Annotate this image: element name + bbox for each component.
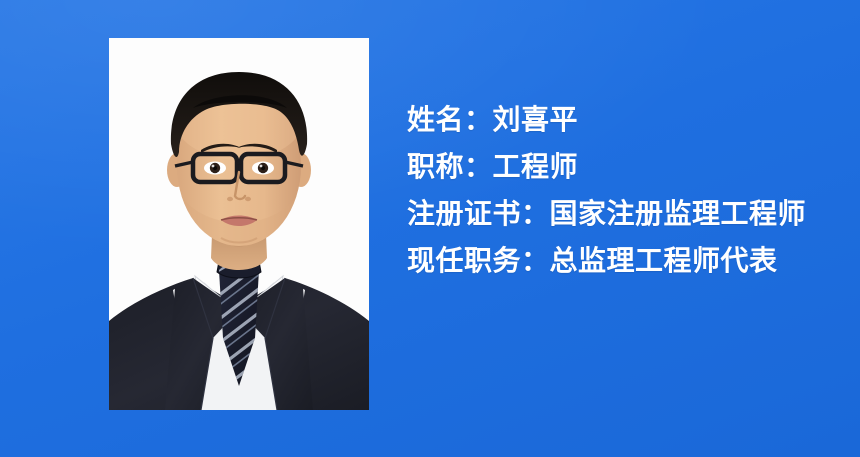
info-block: 姓名：刘喜平 职称：工程师 注册证书：国家注册监理工程师 现任职务：总监理工程师… <box>407 96 837 284</box>
info-line-name: 姓名：刘喜平 <box>407 96 837 143</box>
info-line-certificate: 注册证书：国家注册监理工程师 <box>407 190 837 237</box>
portrait-illustration <box>109 38 369 410</box>
profile-card: 姓名：刘喜平 职称：工程师 注册证书：国家注册监理工程师 现任职务：总监理工程师… <box>0 0 860 457</box>
info-line-position: 现任职务：总监理工程师代表 <box>407 237 837 284</box>
id-portrait-photo <box>109 38 369 410</box>
info-line-title: 职称：工程师 <box>407 143 837 190</box>
